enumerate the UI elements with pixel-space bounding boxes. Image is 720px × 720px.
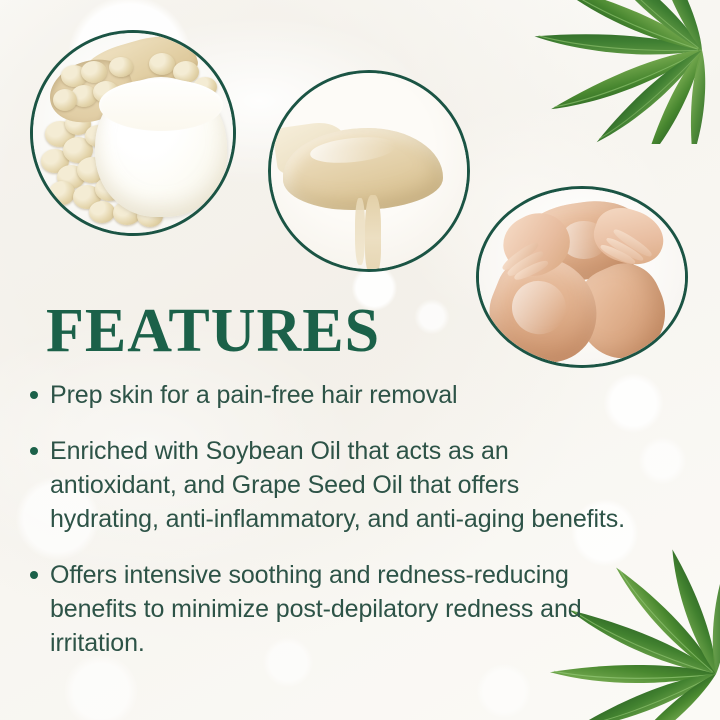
photo-smooth-legs — [476, 186, 688, 368]
bullet-dot-icon — [30, 391, 38, 399]
list-item: Enriched with Soybean Oil that acts as a… — [28, 434, 628, 536]
features-banner: FEATURES Prep skin for a pain-free hair … — [0, 0, 720, 720]
bullet-dot-icon — [30, 447, 38, 455]
bullet-dot-icon — [30, 571, 38, 579]
list-item-label: Enriched with Soybean Oil that acts as a… — [50, 434, 628, 536]
list-item: Offers intensive soothing and redness-re… — [28, 558, 628, 660]
features-list: Prep skin for a pain-free hair removal E… — [28, 378, 628, 660]
bamboo-leaves-top-right-icon — [496, 0, 720, 144]
list-item-label: Offers intensive soothing and redness-re… — [50, 558, 628, 660]
page-title: FEATURES — [46, 300, 380, 362]
list-item-label: Prep skin for a pain-free hair removal — [50, 378, 628, 412]
list-item: Prep skin for a pain-free hair removal — [28, 378, 628, 412]
photo-pouring-wax-cream — [268, 70, 470, 272]
photo-soybeans-and-soy-milk — [30, 30, 236, 236]
